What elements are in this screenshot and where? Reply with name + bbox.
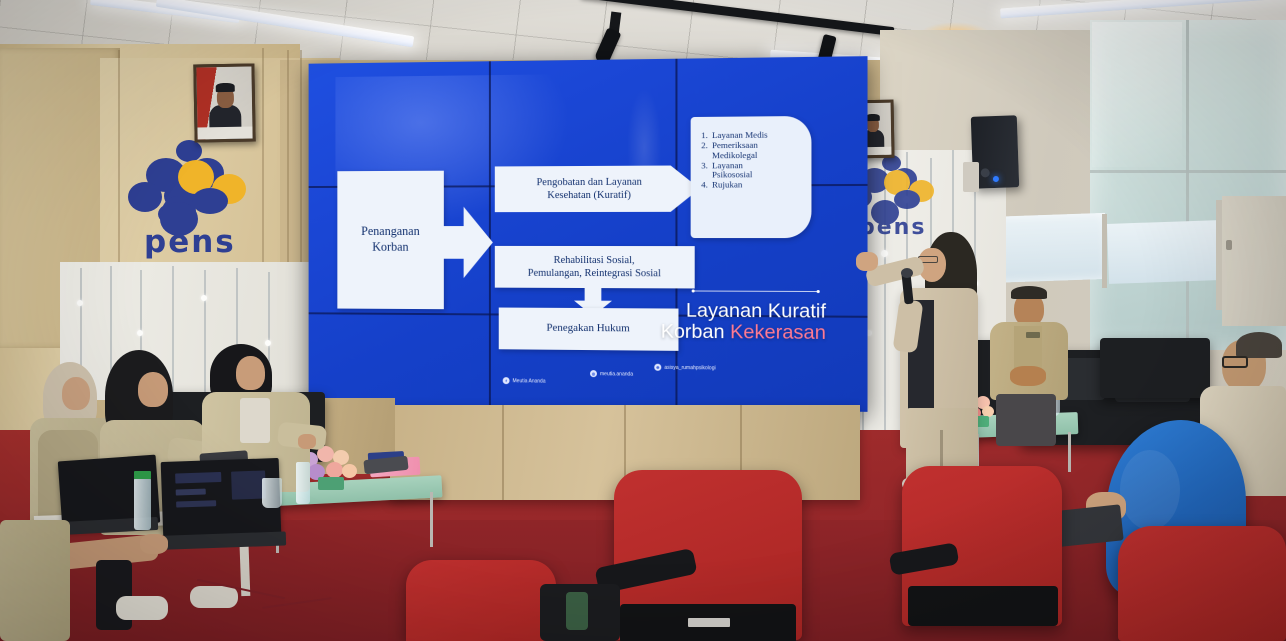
slide-title-line2: Korban Kekerasan [632,321,826,344]
seminar-room-photo: pens pens [0,0,1286,641]
window-frame [1102,214,1107,288]
pens-wordmark: pens [859,215,926,240]
website-icon: ⊕ [654,364,661,371]
window [1107,220,1221,284]
black-sofa-back [1100,338,1210,398]
presentation-slide: Penanganan Korban Pengobatan dan Layanan… [309,56,868,412]
speaker-led-indicator [993,176,999,182]
door [1222,196,1286,326]
speaker-bracket [963,162,979,192]
door-handle-icon [1226,240,1232,250]
footer-handle: meutia.ananda [600,371,633,377]
footer-handle: asisya_rumahpsikologi [664,364,715,371]
blouse [240,398,270,443]
flow-branch-top-label: Pengobatan dan Layanan Kesehatan (Kurati… [495,165,685,212]
auditorium-chair[interactable] [1118,526,1286,641]
flow-detail-list: 1.Layanan Medis 2.Pemeriksaan Medikolega… [699,130,810,190]
slide-title-highlight: Kekerasan [730,321,826,344]
footer-handle: Meutia Ananda [513,378,546,384]
bottle [566,592,588,630]
circuit-node [265,340,271,346]
footer-social-item: ⊕ asisya_rumahpsikologi [654,364,715,372]
hair [1236,332,1282,358]
auditorium-chair[interactable] [902,466,1062,626]
flow-start-box: Penanganan Korban [337,171,443,309]
water-bottle [296,462,310,504]
name-badge [1026,332,1040,338]
circuit-node [201,295,207,301]
pens-logo-left: pens [118,140,268,265]
bottle-cap [134,471,151,479]
pens-wordmark: pens [144,224,236,260]
hair [1011,286,1047,299]
footer-social-item: f Meutia Ananda [503,377,546,384]
shoe [190,586,238,608]
instagram-icon: ◎ [590,370,597,377]
drinking-cup [262,478,282,508]
slide-title-line1: Layanan Kuratif [632,300,826,322]
chair-label [688,618,730,627]
water-bottle [134,478,151,530]
auditorium-chair[interactable] [406,560,556,641]
facebook-icon: f [503,377,510,384]
framed-portrait-left [193,63,255,142]
circuit-node [881,250,888,257]
video-wall-display[interactable]: Penanganan Korban Pengobatan dan Layanan… [309,56,868,412]
circuit-node [137,330,143,336]
shoe [116,596,168,620]
microphone-head [901,268,913,278]
trousers [996,394,1056,446]
hand [140,534,168,554]
gesturing-hand [856,252,878,271]
auditorium-chair[interactable] [614,470,802,640]
glass-mullion [1186,20,1189,350]
circuit-node [77,300,83,306]
list-item: 4.Rujukan [699,180,810,190]
person-body-foreground [0,520,70,641]
glass-reflection [1092,22,1182,167]
glass-mullion [1090,170,1286,173]
flow-branch-mid-box: Rehabilitasi Sosial, Pemulangan, Reinteg… [495,246,695,289]
glasses-icon [1222,356,1248,368]
hands [1010,366,1046,386]
footer-social-item: ◎ meutia.ananda [590,370,633,377]
circuit-trace [204,270,206,410]
